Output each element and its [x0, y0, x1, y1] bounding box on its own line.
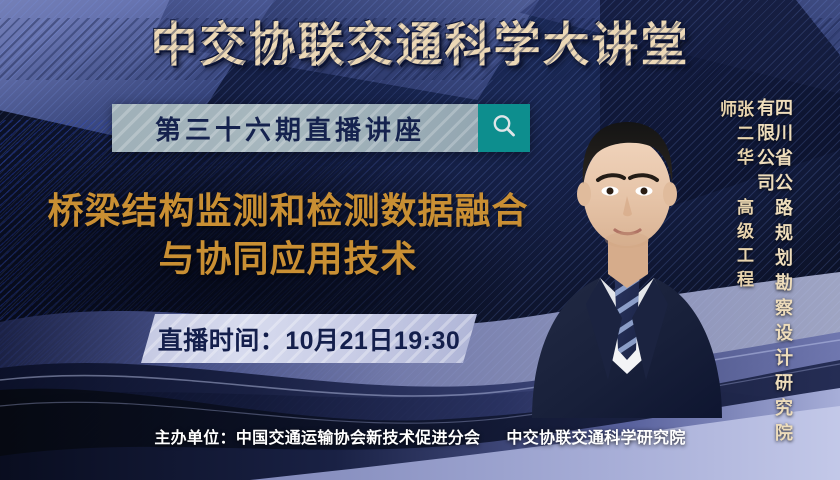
organizer-footer: 主办单位：中国交通运输协会新技术促进分会中交协联交通科学研究院: [0, 424, 840, 448]
subject-line-1: 桥梁结构监测和检测数据融合: [47, 191, 528, 232]
search-icon: [489, 111, 519, 146]
organizer-org-1: 中国交通运输协会新技术促进分会: [236, 430, 481, 447]
page-title: 中交协联交通科学大讲堂: [0, 18, 840, 73]
episode-label: 第三十六期直播讲座: [155, 110, 435, 147]
subject-line-2: 与协同应用技术: [18, 236, 558, 284]
search-input[interactable]: 第三十六期直播讲座: [112, 104, 478, 152]
search-button[interactable]: [478, 104, 530, 152]
organizer-prefix: 主办单位：: [154, 430, 236, 447]
live-lecture-poster: 中交协联交通科学大讲堂 第三十六期直播讲座: [0, 0, 840, 480]
lecture-subject-title: 桥梁结构监测和检测数据融合 与协同应用技术: [18, 188, 558, 284]
broadcast-time-banner: 直播时间：10月21日19:30: [141, 314, 477, 363]
speaker-name-title: 张二华 高级工程师: [718, 100, 752, 310]
speaker-organization: 四川省公路规划勘察设计研究院有限公司: [756, 98, 792, 458]
organizer-org-2: 中交协联交通科学研究院: [506, 430, 685, 447]
speaker-portrait: [530, 88, 725, 418]
broadcast-time-text: 直播时间：10月21日19:30: [158, 321, 461, 357]
episode-search-bar[interactable]: 第三十六期直播讲座: [112, 104, 530, 152]
